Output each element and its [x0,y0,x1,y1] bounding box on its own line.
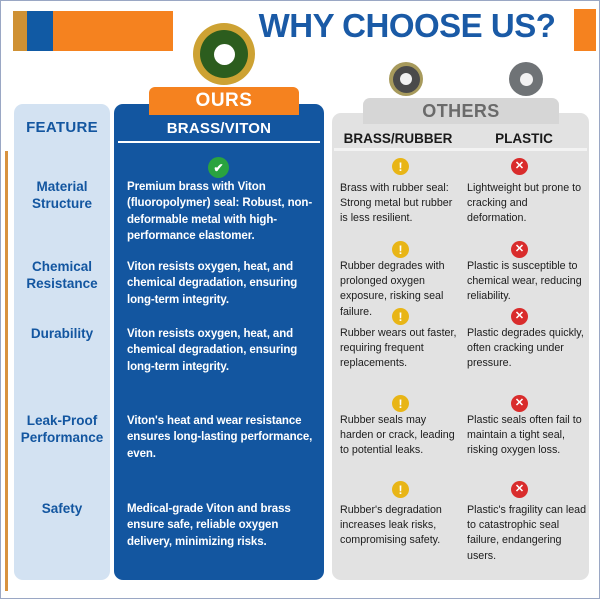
ours-cell-text: Medical-grade Viton and brass ensure saf… [127,501,317,550]
plastic-cell-text: Lightweight but prone to cracking and de… [467,181,587,227]
column-header-brass-rubber: BRASS/RUBBER [334,131,462,146]
o-ring-hole [520,73,533,86]
plastic-cell-text: Plastic seals often fail to maintain a t… [467,413,587,459]
header-divider-ours [118,141,320,143]
o-ring-hole [214,44,235,65]
brass-rubber-cell-text: Rubber's degradation increases leak risk… [340,503,458,549]
feature-label: Leak-ProofPerformance [14,413,110,447]
plastic-cell-text: Plastic degrades quickly, often cracking… [467,326,587,372]
tab-others[interactable]: OTHERS [363,98,559,124]
brass-rubber-cell-text: Rubber seals may harden or crack, leadin… [340,413,458,459]
feature-label: ChemicalResistance [14,259,110,293]
column-header-ours: BRASS/VITON [114,120,324,137]
brand-logo-bar [13,11,173,51]
o-ring-gray-icon [509,62,543,96]
plastic-cell-text: Plastic's fragility can lead to catastro… [467,503,587,564]
logo-segment-gold [13,11,27,51]
status-error-icon: ✕ [511,241,528,258]
status-warning-icon: ! [392,308,409,325]
page-title: WHY CHOOSE US? [257,7,557,45]
o-ring-brass-icon [389,62,423,96]
feature-label: MaterialStructure [14,179,110,213]
ours-cell-text: Viton resists oxygen, heat, and chemical… [127,259,317,308]
column-header-feature: FEATURE [14,119,110,136]
tab-ours[interactable]: OURS [149,87,299,115]
feature-label: Safety [14,501,110,518]
o-ring-hole [400,73,412,85]
status-error-icon: ✕ [511,308,528,325]
o-ring-inner [200,30,248,78]
header-divider-others [334,148,587,151]
o-ring-green-gold-icon [193,23,255,85]
status-check-icon: ✔ [208,157,229,178]
status-warning-icon: ! [392,481,409,498]
ours-cell-text: Viton's heat and wear resistance ensures… [127,413,317,462]
o-ring-inner [393,66,420,93]
poster-header: WHY CHOOSE US? [1,1,600,97]
status-error-icon: ✕ [511,481,528,498]
ours-cell-text: Viton resists oxygen, heat, and chemical… [127,326,317,375]
status-warning-icon: ! [392,395,409,412]
corner-accent-block [574,9,596,51]
feature-label: Durability [14,326,110,343]
status-error-icon: ✕ [511,395,528,412]
logo-segment-orange [53,11,173,51]
status-warning-icon: ! [392,158,409,175]
logo-segment-blue [27,11,53,51]
brass-rubber-cell-text: Rubber wears out faster, requiring frequ… [340,326,458,372]
status-warning-icon: ! [392,241,409,258]
comparison-infographic: WHY CHOOSE US? OURS OTHERS FEATURE BRASS… [0,0,600,599]
brass-rubber-cell-text: Brass with rubber seal: Strong metal but… [340,181,458,227]
left-accent-stripe [5,151,8,591]
ours-cell-text: Premium brass with Viton (fluoropolymer)… [127,179,317,244]
plastic-cell-text: Plastic is susceptible to chemical wear,… [467,259,587,305]
status-error-icon: ✕ [511,158,528,175]
column-header-plastic: PLASTIC [462,131,586,146]
